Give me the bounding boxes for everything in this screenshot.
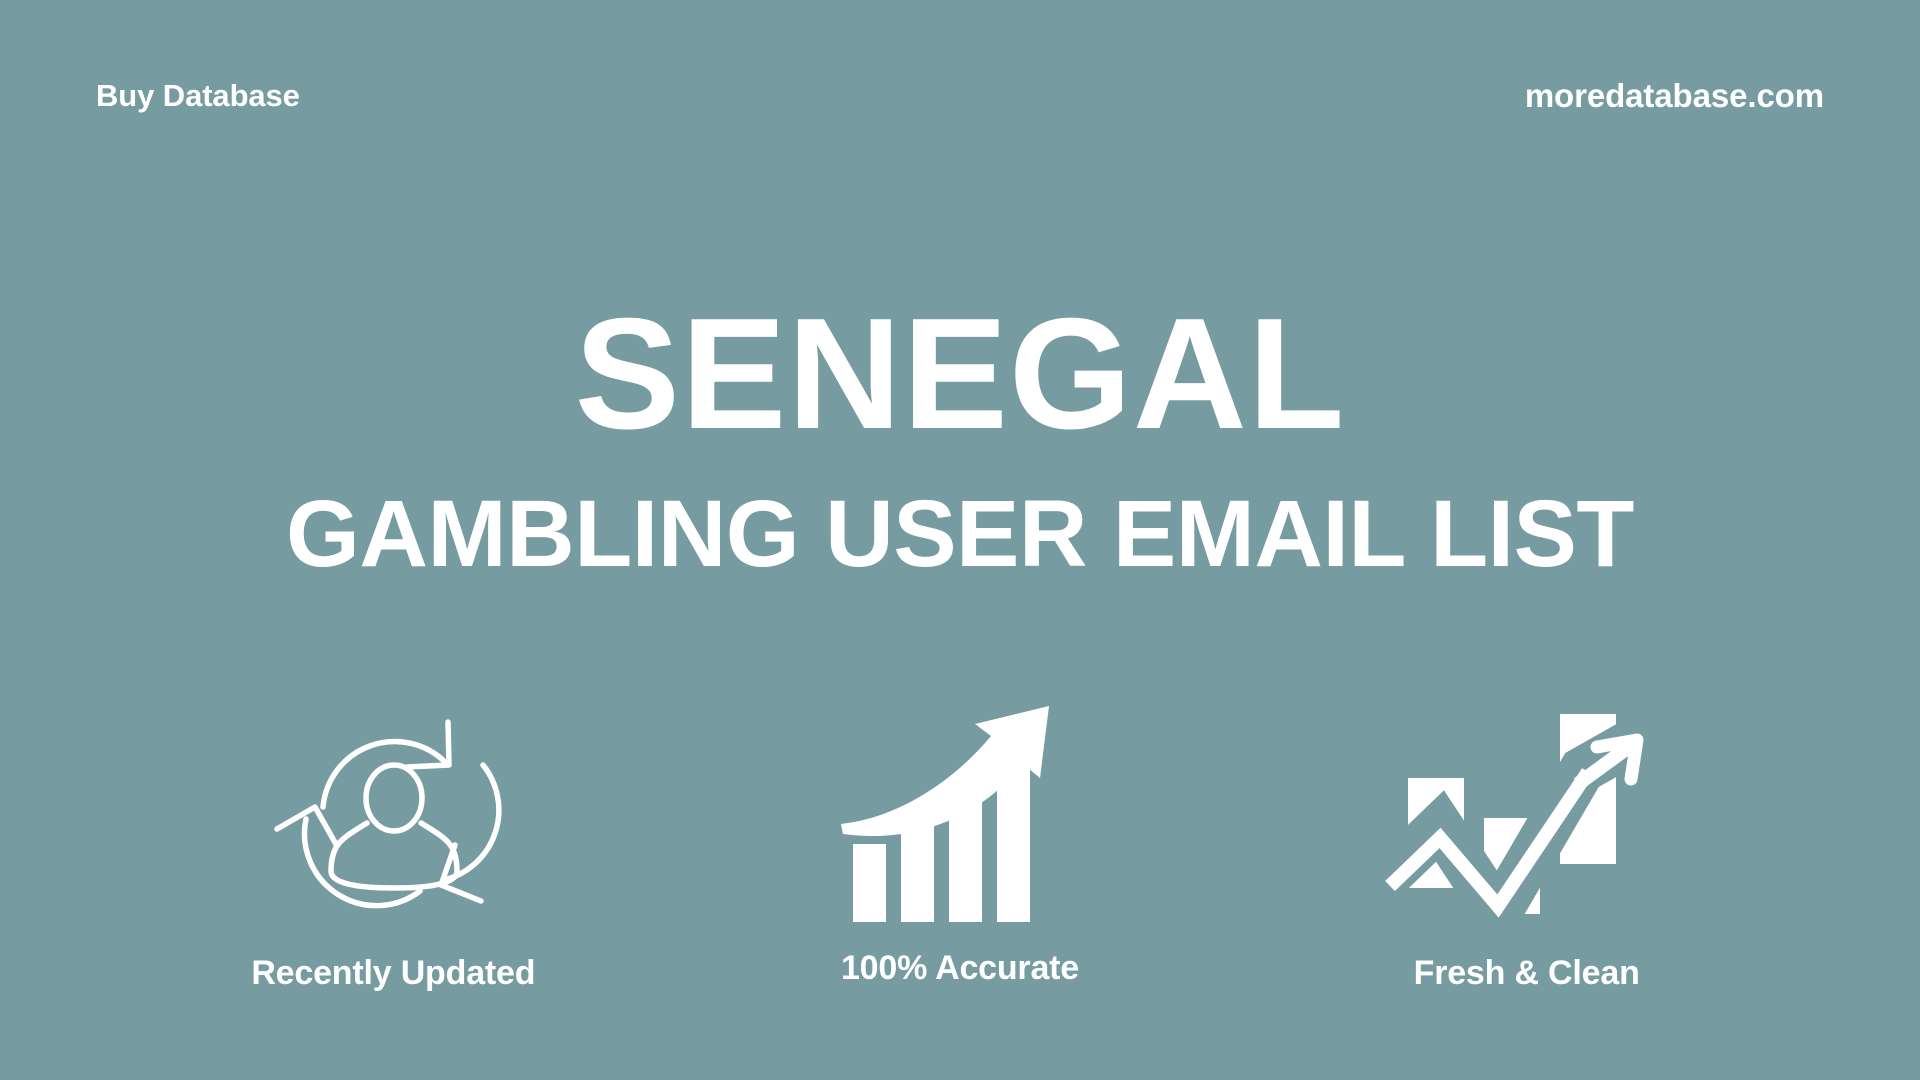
recycle-user-icon (268, 690, 518, 950)
page-title-country: SENEGAL (0, 300, 1920, 449)
website-url: moredatabase.com (1525, 79, 1824, 112)
feature-item-fresh-clean: Fresh & Clean (1307, 690, 1747, 990)
brand-name: Buy Database (96, 80, 300, 111)
promo-banner: Buy Database moredatabase.com SENEGAL GA… (0, 0, 1920, 1080)
hero-section: SENEGAL GAMBLING USER EMAIL LIST (0, 300, 1920, 582)
feature-item-100-accurate: 100% Accurate (740, 690, 1180, 985)
feature-label: Fresh & Clean (1414, 956, 1640, 990)
bar-chart-growth-arrow-icon (835, 690, 1085, 945)
feature-label: Recently Updated (251, 956, 535, 990)
feature-list: Recently Updated 100% Accurate (0, 690, 1920, 1050)
banner-header: Buy Database moredatabase.com (0, 0, 1920, 190)
bar-chart-zigzag-arrow-icon (1392, 690, 1662, 950)
page-subtitle: GAMBLING USER EMAIL LIST (0, 487, 1920, 582)
feature-item-recently-updated: Recently Updated (173, 690, 613, 990)
feature-label: 100% Accurate (841, 951, 1079, 985)
